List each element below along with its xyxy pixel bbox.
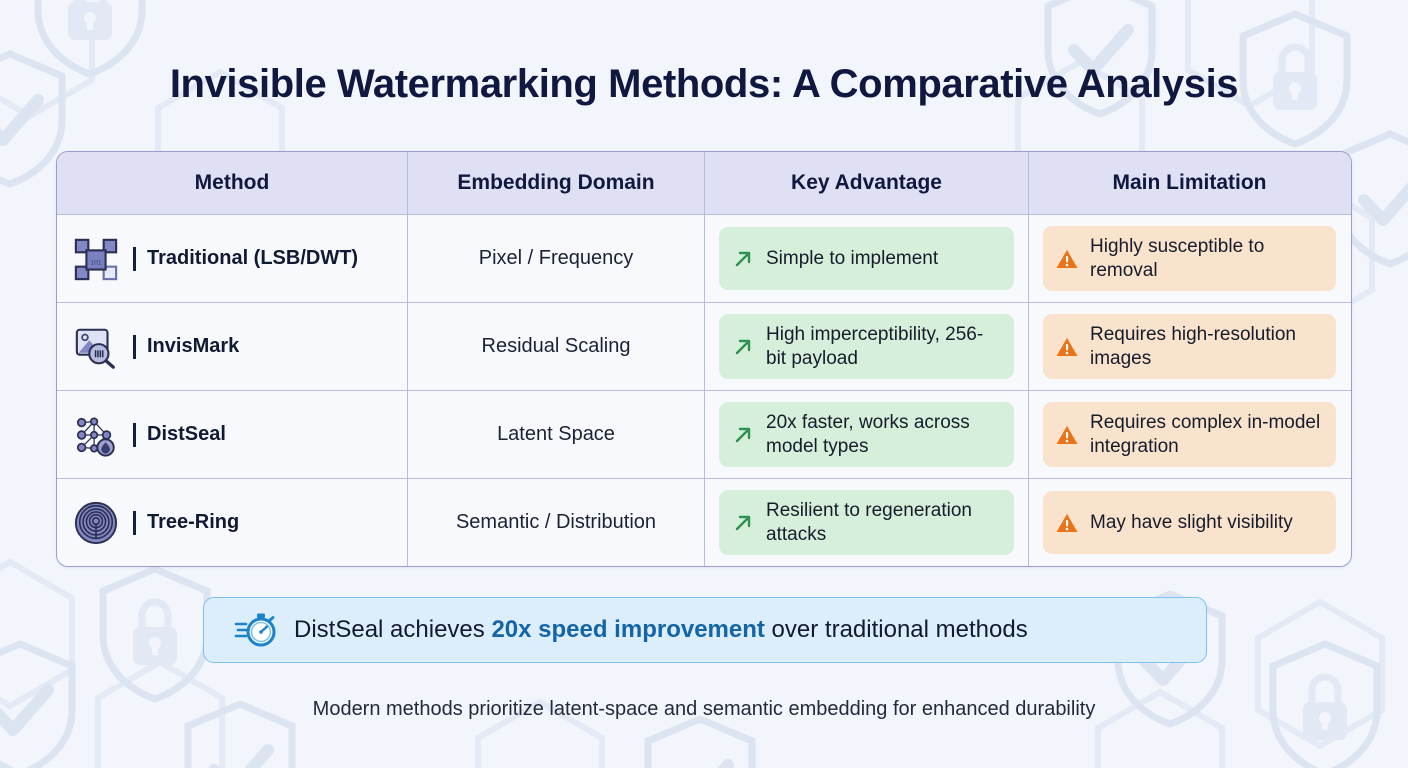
arrow-up-right-icon [731,423,755,447]
warning-triangle-icon [1055,423,1079,447]
warning-triangle-icon [1055,511,1079,535]
neural-network-icon [73,412,119,458]
limitation-pill: Requires complex in-model integration [1043,402,1336,466]
embedding-domain-cell: Semantic / Distribution [408,479,705,566]
arrow-up-right-icon [731,247,755,271]
main-limitation-cell: May have slight visibility [1029,479,1350,566]
advantage-text: High imperceptibility, 256-bit payload [766,323,1002,369]
callout-text: DistSeal achieves 20x speed improvement … [294,616,1028,644]
column-header-main-limitation[interactable]: Main Limitation [1029,152,1350,214]
method-cell: Tree-Ring [57,479,408,566]
advantage-text: 20x faster, works across model types [766,411,1002,457]
callout-text-after: over traditional methods [765,616,1028,643]
limitation-pill: Highly susceptible to removal [1043,226,1336,290]
method-cell: DistSeal [57,391,408,478]
method-divider [133,335,136,359]
pixel-blocks-icon: 101 [73,236,119,282]
limitation-text: Requires complex in-model integration [1090,411,1324,457]
page-title: Invisible Watermarking Methods: A Compar… [0,62,1408,107]
table-row: Tree-Ring Semantic / Distribution Resili… [57,478,1351,566]
callout-highlight: 20x speed improvement [491,616,764,643]
method-label: Tree-Ring [147,511,239,534]
key-advantage-cell: Simple to implement [705,215,1029,302]
advantage-pill: High imperceptibility, 256-bit payload [719,314,1014,378]
speed-callout-banner: DistSeal achieves 20x speed improvement … [203,597,1207,663]
arrow-up-right-icon [731,511,755,535]
comparison-table: Method Embedding Domain Key Advantage Ma… [56,151,1352,567]
method-label: DistSeal [147,423,226,446]
method-cell: InvisMark [57,303,408,390]
embedding-domain-cell: Latent Space [408,391,705,478]
table-row: InvisMark Residual Scaling High impercep… [57,302,1351,390]
limitation-pill: Requires high-resolution images [1043,314,1336,378]
method-divider [133,423,136,447]
embedding-domain-cell: Pixel / Frequency [408,215,705,302]
method-label: InvisMark [147,335,239,358]
method-divider [133,511,136,535]
tree-rings-icon [73,500,119,546]
main-limitation-cell: Requires complex in-model integration [1029,391,1350,478]
column-header-embedding-domain[interactable]: Embedding Domain [408,152,705,214]
warning-triangle-icon [1055,247,1079,271]
image-magnifier-icon [73,324,119,370]
column-header-key-advantage[interactable]: Key Advantage [705,152,1029,214]
arrow-up-right-icon [731,335,755,359]
limitation-text: Requires high-resolution images [1090,323,1324,369]
method-cell: 101 Traditional (LSB/DWT) [57,215,408,302]
table-row: 101 Traditional (LSB/DWT) Pixel / Freque… [57,214,1351,302]
key-advantage-cell: High imperceptibility, 256-bit payload [705,303,1029,390]
limitation-text: Highly susceptible to removal [1090,235,1324,281]
key-advantage-cell: 20x faster, works across model types [705,391,1029,478]
main-limitation-cell: Highly susceptible to removal [1029,215,1350,302]
main-limitation-cell: Requires high-resolution images [1029,303,1350,390]
advantage-text: Simple to implement [766,247,938,270]
callout-text-before: DistSeal achieves [294,616,491,643]
column-header-method[interactable]: Method [57,152,408,214]
stopwatch-icon [234,608,278,652]
table-header-row: Method Embedding Domain Key Advantage Ma… [57,152,1351,214]
limitation-pill: May have slight visibility [1043,491,1336,554]
footer-note: Modern methods prioritize latent-space a… [0,698,1408,721]
advantage-pill: Simple to implement [719,227,1014,290]
table-row: DistSeal Latent Space 20x faster, works … [57,390,1351,478]
method-label: Traditional (LSB/DWT) [147,247,358,270]
advantage-text: Resilient to regeneration attacks [766,499,1002,545]
advantage-pill: Resilient to regeneration attacks [719,490,1014,554]
advantage-pill: 20x faster, works across model types [719,402,1014,466]
key-advantage-cell: Resilient to regeneration attacks [705,479,1029,566]
method-divider [133,247,136,271]
limitation-text: May have slight visibility [1090,511,1293,534]
warning-triangle-icon [1055,335,1079,359]
embedding-domain-cell: Residual Scaling [408,303,705,390]
svg-text:101: 101 [90,259,101,266]
